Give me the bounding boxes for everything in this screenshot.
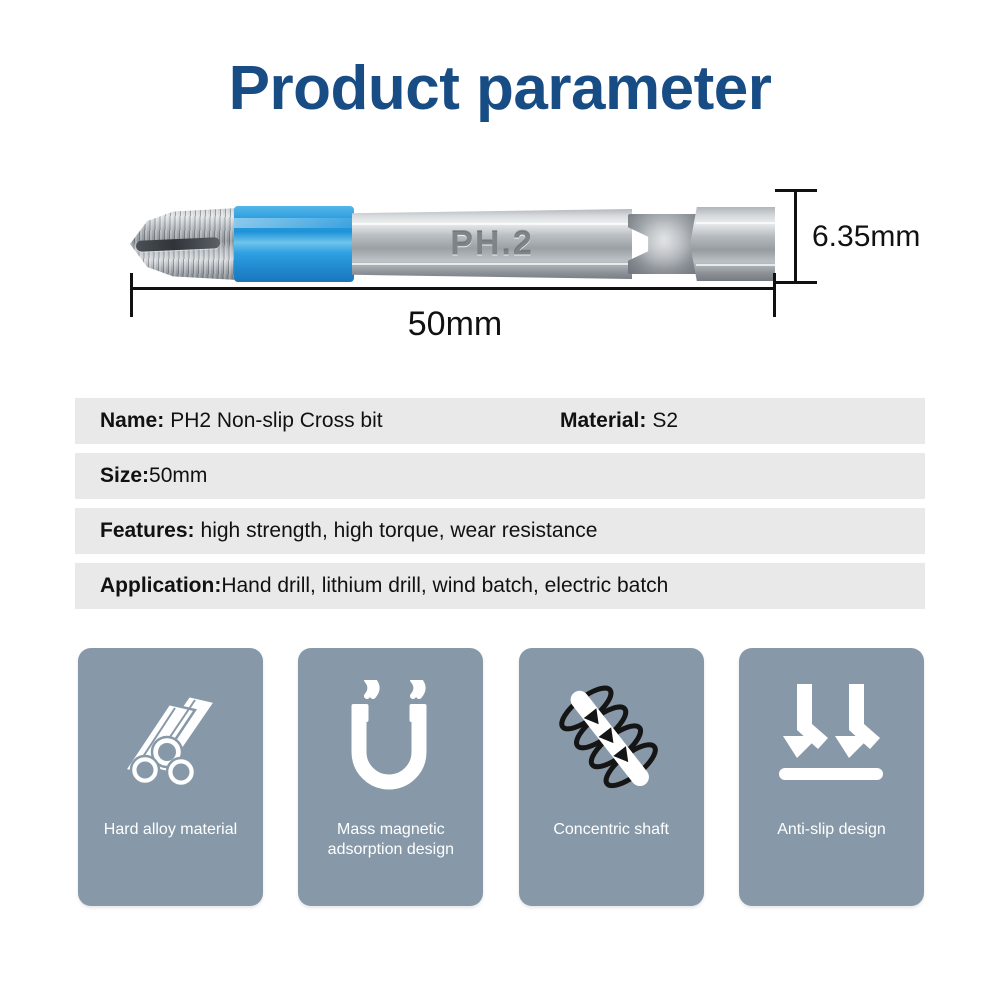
- spec-value: Hand drill, lithium drill, wind batch, e…: [221, 574, 668, 598]
- table-row: Name: PH2 Non-slip Cross bit Material: S…: [75, 398, 925, 444]
- hex-edge-highlight-bottom: [696, 264, 775, 266]
- groove-highlight: [628, 214, 700, 274]
- spec-label: Application:: [100, 574, 221, 598]
- length-dimension-tick-right: [773, 273, 776, 317]
- feature-card-magnetic: Mass magneticadsorption design: [298, 648, 483, 906]
- page-title: Product parameter: [0, 58, 1000, 120]
- length-dimension-label: 50mm: [330, 305, 580, 344]
- spec-value: S2: [652, 409, 678, 433]
- feature-card-label: Hard alloy material: [86, 820, 255, 840]
- bit-size-marking: PH.2: [352, 225, 632, 264]
- spec-application: Application: Hand drill, lithium drill, …: [75, 574, 668, 598]
- table-row: Application: Hand drill, lithium drill, …: [75, 563, 925, 609]
- spec-size: Size: 50mm: [75, 464, 207, 488]
- feature-card-concentric-shaft: Concentric shaft: [519, 648, 704, 906]
- spec-label: Size:: [100, 464, 149, 488]
- feature-card-label: Anti-slip design: [747, 820, 916, 840]
- specification-table: Name: PH2 Non-slip Cross bit Material: S…: [75, 398, 925, 618]
- feature-card-label: Concentric shaft: [527, 820, 696, 840]
- length-dimension-line: [130, 287, 776, 290]
- spec-material: Material: S2: [560, 409, 678, 433]
- feature-card-hard-alloy: Hard alloy material: [78, 648, 263, 906]
- spec-label: Name:: [100, 409, 164, 433]
- blue-plastic-collar: [234, 206, 354, 282]
- steel-shank: PH.2: [352, 209, 632, 279]
- spec-name: Name: PH2 Non-slip Cross bit: [75, 409, 383, 433]
- product-figure: PH.2 50mm 6.35mm: [0, 160, 1000, 360]
- shank-waist-groove: [628, 214, 700, 274]
- spec-label: Material:: [560, 409, 646, 433]
- horseshoe-magnet-icon: [298, 670, 483, 810]
- feature-card-anti-slip: Anti-slip design: [739, 648, 924, 906]
- table-row: Size: 50mm: [75, 453, 925, 499]
- table-row: Features: high strength, high torque, we…: [75, 508, 925, 554]
- diameter-dimension-cap-top: [775, 189, 817, 192]
- spec-label: Features:: [100, 519, 195, 543]
- hex-edge-highlight-top: [696, 222, 775, 224]
- concentric-helix-shaft-icon: [519, 670, 704, 810]
- feature-card-list: Hard alloy material Mass magneticadsorpt…: [78, 648, 924, 906]
- spec-features: Features: high strength, high torque, we…: [75, 519, 597, 543]
- spec-value: PH2 Non-slip Cross bit: [170, 409, 382, 433]
- diameter-dimension-cap-bottom: [775, 281, 817, 284]
- hex-drive-end: [690, 207, 775, 281]
- phillips-cross-tip: [130, 208, 238, 280]
- diameter-dimension-label: 6.35mm: [812, 220, 920, 254]
- feature-card-label: Mass magneticadsorption design: [306, 820, 475, 861]
- alloy-rods-icon: [78, 670, 263, 810]
- screwdriver-bit-illustration: PH.2: [130, 190, 775, 295]
- diameter-dimension-line: [794, 190, 797, 284]
- spec-value: high strength, high torque, wear resista…: [201, 519, 598, 543]
- spec-value: 50mm: [149, 464, 207, 488]
- anti-slip-arrows-icon: [739, 670, 924, 810]
- length-dimension-tick-left: [130, 273, 133, 317]
